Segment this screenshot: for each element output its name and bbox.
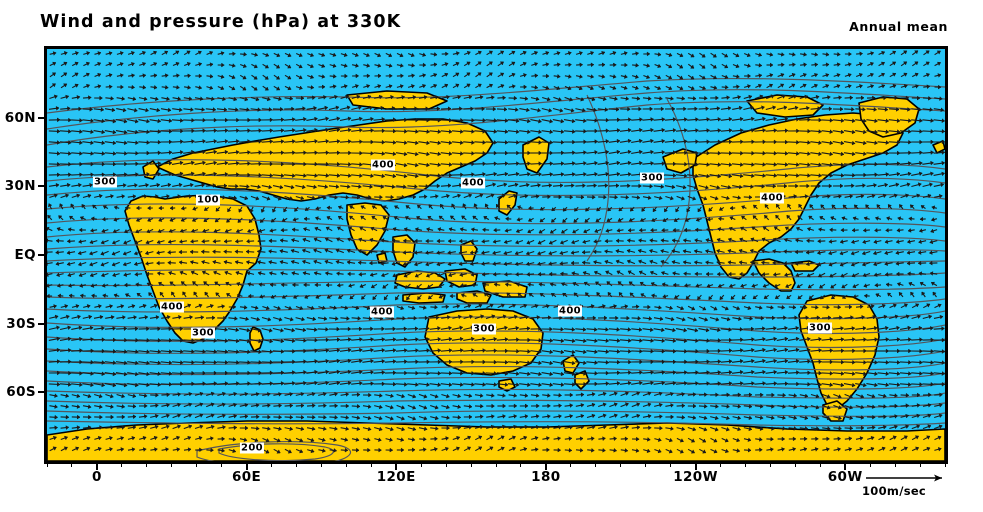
lon-minor-tick: [720, 463, 721, 467]
lon-minor-tick: [820, 463, 821, 467]
lon-minor-tick: [96, 463, 97, 467]
lon-minor-tick: [545, 463, 546, 467]
lon-tick-label-180: 180: [516, 469, 576, 485]
contour-label: 300: [640, 173, 664, 184]
lon-minor-tick: [745, 463, 746, 467]
lon-minor-tick: [670, 463, 671, 467]
lon-minor-tick: [196, 463, 197, 467]
contour-label: 300: [191, 328, 215, 339]
lon-minor-tick: [496, 463, 497, 467]
lon-minor-tick: [520, 463, 521, 467]
contour-label: 300: [808, 323, 832, 334]
contour-label: 400: [160, 302, 184, 313]
lon-minor-tick: [920, 463, 921, 467]
lon-minor-tick: [471, 463, 472, 467]
lon-minor-tick: [645, 463, 646, 467]
lat-tick-mark: [38, 117, 45, 119]
lon-minor-tick: [71, 463, 72, 467]
contour-label: 400: [760, 193, 784, 204]
lat-tick-label-60s: 60S: [0, 384, 36, 400]
vector-scale-label: 100m/sec: [862, 484, 926, 498]
lon-minor-tick: [396, 463, 397, 467]
lon-minor-tick: [371, 463, 372, 467]
lon-minor-tick: [146, 463, 147, 467]
lat-tick-label-30s: 30S: [0, 316, 36, 332]
lon-minor-tick: [421, 463, 422, 467]
contour-label: 300: [472, 324, 496, 335]
lon-tick-label-60e: 60E: [217, 469, 277, 485]
lon-minor-tick: [695, 463, 696, 467]
lon-tick-label-120e: 120E: [366, 469, 426, 485]
contour-label: 100: [196, 195, 220, 206]
page-title: Wind and pressure (hPa) at 330K: [40, 12, 401, 32]
contour-label: 400: [371, 160, 395, 171]
lon-minor-tick: [271, 463, 272, 467]
lon-minor-tick: [895, 463, 896, 467]
lon-minor-tick: [296, 463, 297, 467]
lon-minor-tick: [770, 463, 771, 467]
lon-minor-tick: [620, 463, 621, 467]
lon-minor-tick: [121, 463, 122, 467]
lon-minor-tick: [945, 463, 946, 467]
lat-tick-mark: [38, 391, 45, 393]
lon-tick-label-120w: 120W: [666, 469, 726, 485]
lon-minor-tick: [870, 463, 871, 467]
contour-label: 400: [370, 307, 394, 318]
lat-tick-label-eq: EQ: [0, 247, 36, 263]
contour-label: 400: [558, 306, 582, 317]
vector-scale-key: 100m/sec: [862, 470, 954, 504]
lon-minor-tick: [171, 463, 172, 467]
map-canvas: 300100400400300400400300400300400300200: [47, 49, 945, 461]
lon-minor-tick: [346, 463, 347, 467]
lon-minor-tick: [570, 463, 571, 467]
contour-label: 400: [461, 178, 485, 189]
lat-tick-mark: [38, 323, 45, 325]
lat-tick-label-60n: 60N: [0, 110, 36, 126]
lat-tick-mark: [38, 185, 45, 187]
wind-vector-layer: [47, 49, 945, 461]
lon-minor-tick: [595, 463, 596, 467]
contour-label: 200: [240, 443, 264, 454]
lon-minor-tick: [47, 463, 48, 467]
lat-tick-label-30n: 30N: [0, 178, 36, 194]
lon-minor-tick: [845, 463, 846, 467]
lat-tick-mark: [38, 254, 45, 256]
figure-subtitle: Annual mean: [849, 19, 948, 34]
lon-minor-tick: [446, 463, 447, 467]
lon-minor-tick: [246, 463, 247, 467]
lon-minor-tick: [221, 463, 222, 467]
map-plot-area[interactable]: 300100400400300400400300400300400300200: [44, 46, 948, 464]
lon-minor-tick: [321, 463, 322, 467]
contour-label: 300: [93, 177, 117, 188]
figure-root: Wind and pressure (hPa) at 330K Annual m…: [0, 0, 983, 512]
lon-tick-label-0: 0: [67, 469, 127, 485]
lon-minor-tick: [795, 463, 796, 467]
